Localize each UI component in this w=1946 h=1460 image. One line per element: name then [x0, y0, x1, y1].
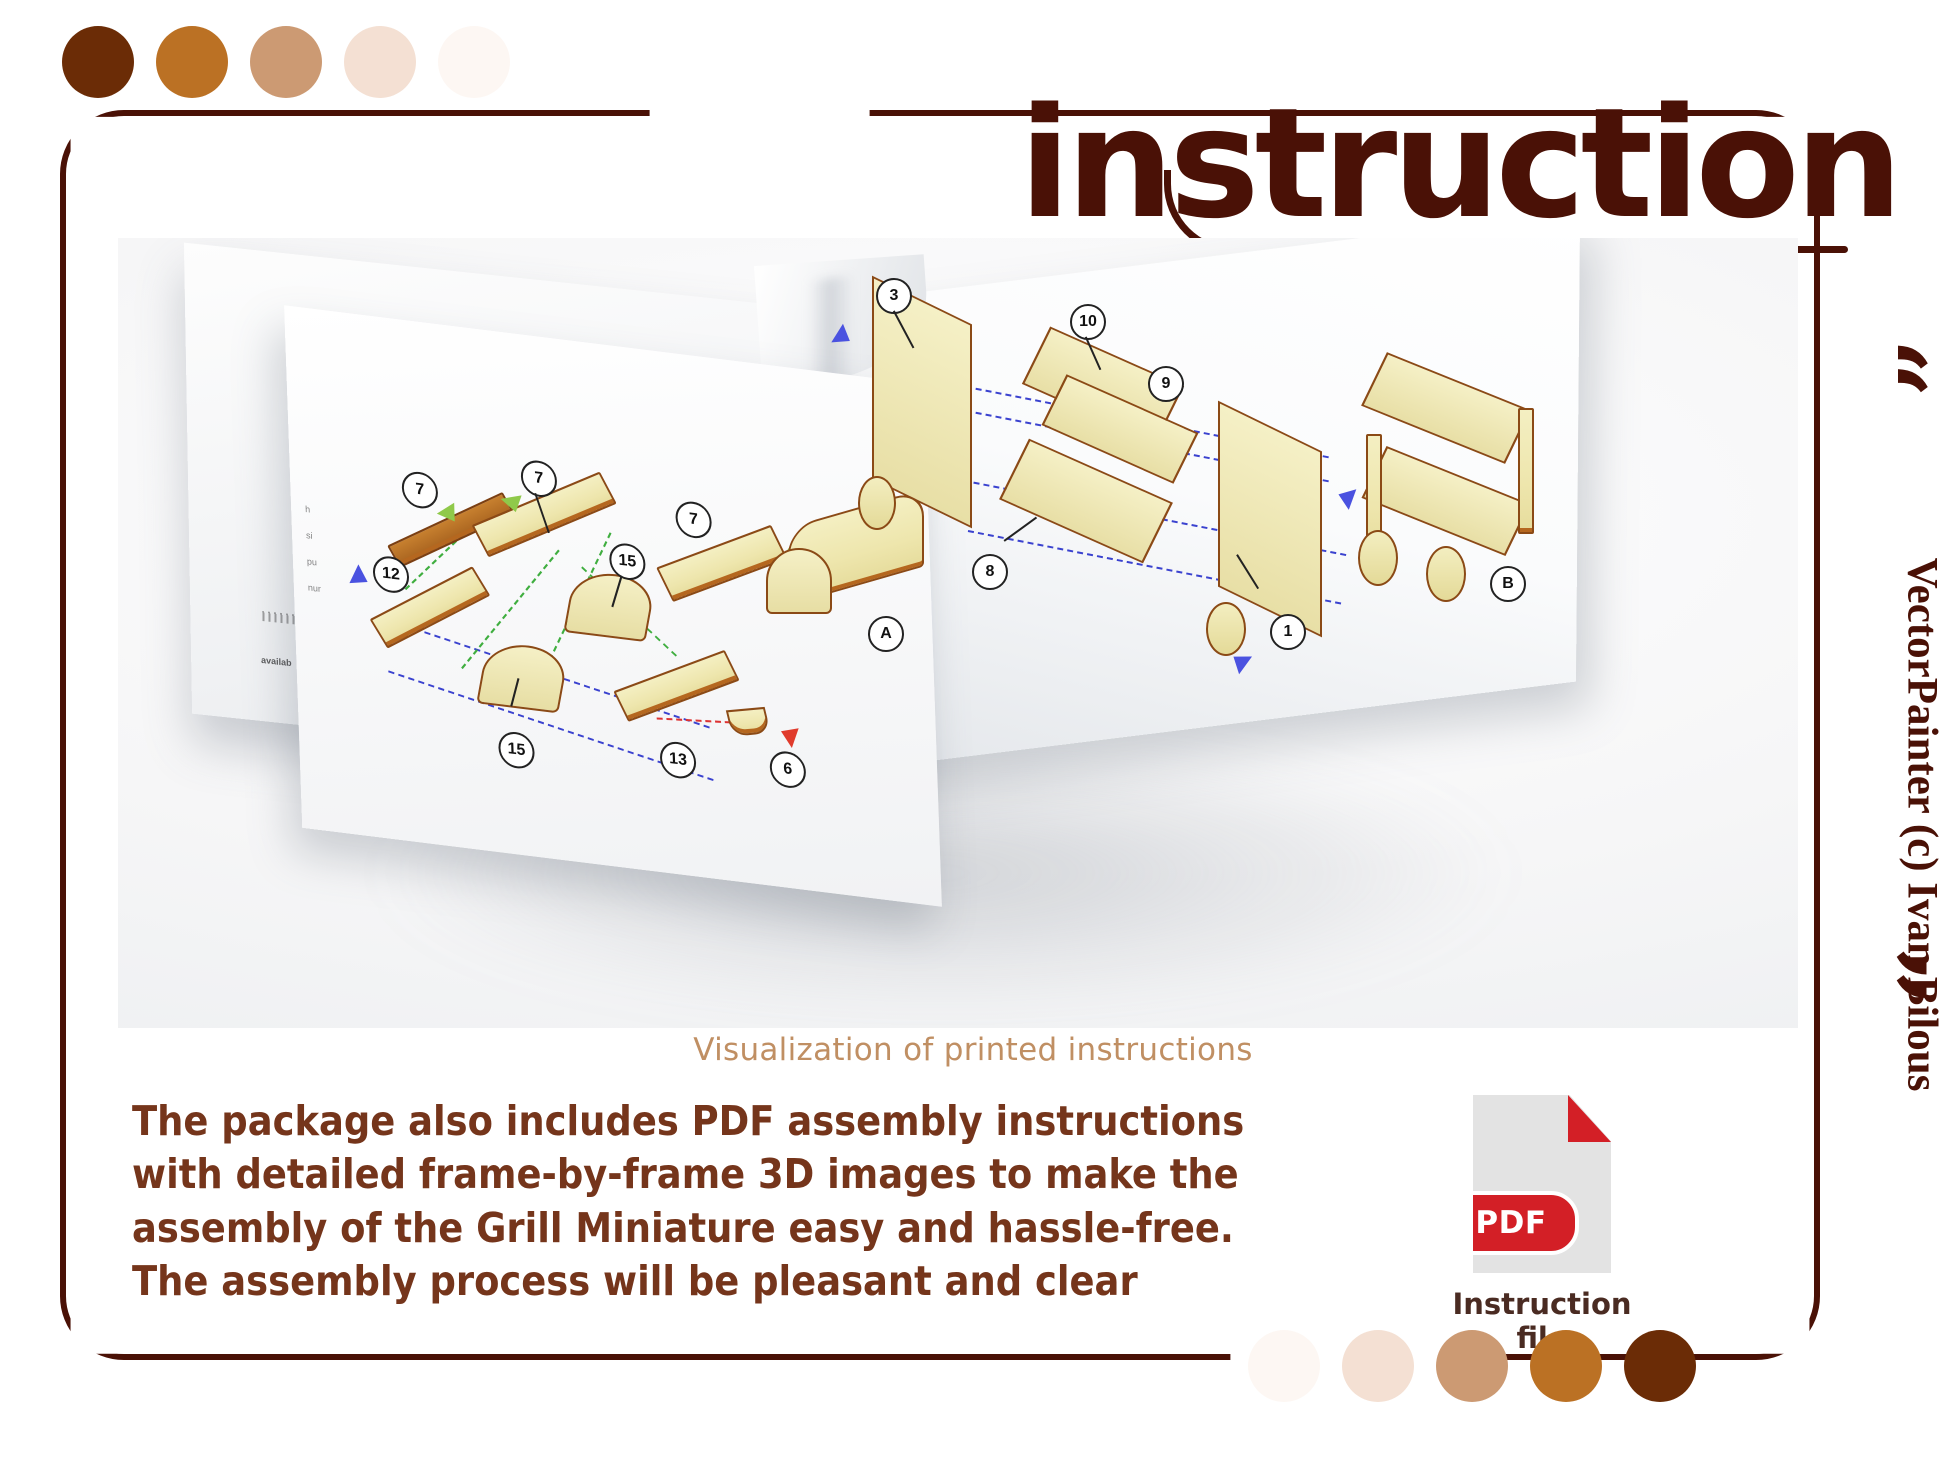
swatch-top-3	[250, 26, 322, 98]
part-rail-13	[613, 650, 739, 722]
swatch-top-4	[344, 26, 416, 98]
callout-7b: 7	[520, 458, 557, 499]
callout-label-B: B	[1490, 566, 1526, 602]
swatch-top-2	[156, 26, 228, 98]
pdf-file-icon: PDF	[1473, 1095, 1611, 1273]
swatch-bottom-3	[1436, 1330, 1508, 1402]
instruction-book-mockup: availab h si pu nur	[118, 238, 1798, 1028]
quote-close-icon: ”	[1850, 946, 1923, 1006]
arrow-red-1	[778, 721, 799, 748]
leader-8	[1004, 517, 1037, 542]
swatch-top-5	[438, 26, 510, 98]
callout-15b: 15	[498, 730, 535, 771]
promo-paragraph: The package also includes PDF assembly i…	[132, 1095, 1312, 1308]
assembled-cart-b-wheel	[1358, 530, 1398, 586]
page-text-fragment-availab: availab	[261, 655, 292, 668]
page-text-fragment-pu: pu	[307, 556, 317, 567]
callout-13: 13	[659, 740, 696, 781]
promo-line-2: with detailed frame-by-frame 3D images t…	[132, 1148, 1312, 1201]
callout-9: 9	[1148, 366, 1184, 402]
arrow-blue-right-1	[831, 324, 855, 351]
page-text-fragment-h: h	[305, 504, 310, 515]
promo-line-4: The assembly process will be pleasant an…	[132, 1255, 1312, 1308]
callout-7a: 7	[401, 470, 438, 511]
pdf-fold-corner-icon	[1568, 1095, 1611, 1142]
swatch-top-1	[62, 26, 134, 98]
part-side-panel-1	[1218, 401, 1322, 638]
swatch-bottom-5	[1624, 1330, 1696, 1402]
assembled-cart-b-leg-right	[1518, 408, 1534, 534]
mockup-caption: Visualization of printed instructions	[0, 1032, 1946, 1068]
page-title: instruction	[1019, 88, 1898, 240]
swatch-bottom-2	[1342, 1330, 1414, 1402]
part-curve-6	[726, 707, 771, 737]
swatch-bottom-1	[1248, 1330, 1320, 1402]
callout-10: 10	[1070, 304, 1106, 340]
color-palette-bottom	[1248, 1330, 1696, 1402]
part-dome-15a	[563, 569, 656, 642]
pdf-badge: PDF	[1443, 1191, 1579, 1255]
page-text-fragment-nur: nur	[308, 582, 321, 594]
promo-line-1: The package also includes PDF assembly i…	[132, 1095, 1312, 1148]
diagram-right: B 3 10 9 8 1	[818, 258, 1578, 728]
credit-text: VectorPainter (c) Ivan Bilous	[1898, 335, 1946, 1315]
callout-8: 8	[972, 554, 1008, 590]
callout-3: 3	[876, 278, 912, 314]
swatch-bottom-4	[1530, 1330, 1602, 1402]
assembled-cart-b-wheel-2	[1426, 546, 1466, 602]
credit-block: VectorPainter (c) Ivan Bilous	[1862, 330, 1942, 1330]
callout-1: 1	[1270, 614, 1306, 650]
part-dome-15b	[476, 641, 569, 714]
pdf-instruction-block[interactable]: PDF Instruction file	[1432, 1095, 1652, 1355]
page-text-fragment-si: si	[306, 530, 313, 541]
callout-7c: 7	[675, 500, 712, 541]
arrow-blue-1	[349, 564, 372, 591]
part-wheel-left-3	[858, 476, 896, 530]
poster-stage: instruction “ VectorPainter (c) Ivan Bil…	[0, 0, 1946, 1460]
callout-6: 6	[769, 749, 806, 790]
color-palette-top	[62, 26, 510, 98]
arrow-blue-right-2	[1335, 484, 1357, 510]
promo-line-3: assembly of the Grill Miniature easy and…	[132, 1202, 1312, 1255]
